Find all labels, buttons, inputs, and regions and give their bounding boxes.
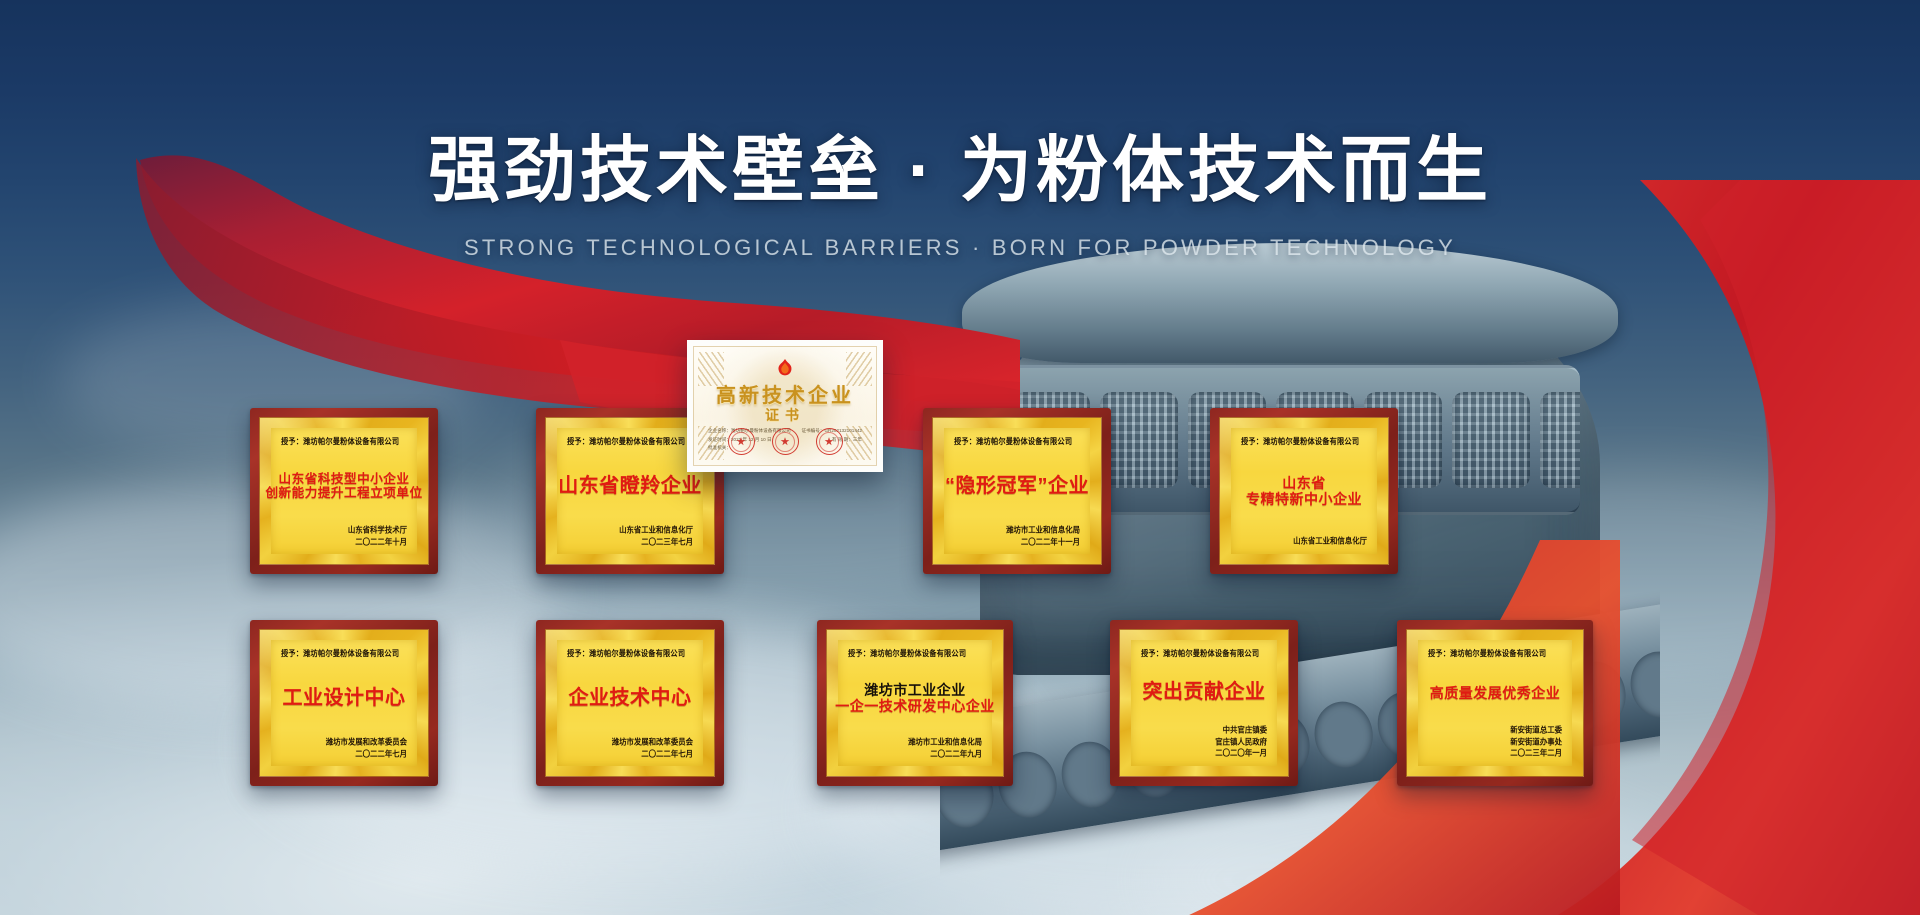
plaque-grantee: 授予：潍坊帕尔曼粉体设备有限公司 (1241, 436, 1367, 447)
plaque-issuer-line-1: 潍坊市工业和信息化局 (848, 736, 982, 748)
plaque-issuer: 新安街道总工委 新安街道办事处 二〇二三年二月 (1428, 725, 1562, 760)
plaque-title: 企业技术中心 (567, 658, 693, 739)
plaque-issuer-line-1: 中共官庄镇委 (1141, 725, 1267, 737)
plaque-title: 突出贡献企业 (1141, 658, 1267, 728)
plaque-issuer-line-2: 二〇二三年七月 (567, 536, 693, 548)
plaque-issuer-line-2: 新安街道办事处 (1428, 736, 1562, 748)
plaque-hidden-champion[interactable]: 授予：潍坊帕尔曼粉体设备有限公司 “隐形冠军”企业 潍坊市工业和信息化局 二〇二… (923, 408, 1111, 574)
plaque-grantee: 授予：潍坊帕尔曼粉体设备有限公司 (281, 648, 407, 659)
plaque-title: 高质量发展优秀企业 (1428, 658, 1562, 728)
plaque-issuer-line-3: 二〇二三年二月 (1428, 748, 1562, 760)
plaque-issuer-line-1: 新安街道总工委 (1428, 725, 1562, 737)
plaque-title: 山东省瞪羚企业 (567, 446, 693, 527)
plaque-title-line-1: 山东省 (1282, 476, 1326, 491)
plaque-title: 山东省 专精特新中小企业 (1241, 446, 1367, 537)
plaque-grantee: 授予：潍坊帕尔曼粉体设备有限公司 (567, 436, 693, 447)
plaque-issuer-line-2: 二〇二二年七月 (281, 748, 407, 760)
headline-block: 强劲技术壁垒 · 为粉体技术而生 STRONG TECHNOLOGICAL BA… (0, 130, 1920, 261)
plaque-issuer: 潍坊市发展和改革委员会 二〇二二年七月 (281, 736, 407, 760)
plaque-issuer: 潍坊市工业和信息化局 二〇二二年九月 (848, 736, 982, 760)
plaque-issuer: 潍坊市工业和信息化局 二〇二二年十一月 (954, 524, 1080, 548)
plaque-title-line-1: 山东省瞪羚企业 (558, 476, 702, 497)
plaque-issuer-line-2: 官庄镇人民政府 (1141, 736, 1267, 748)
plaque-title-line-1: 工业设计中心 (283, 688, 406, 709)
plaque-title-line-1: “隐形冠军”企业 (945, 476, 1089, 497)
plaque-shandong-tech-sme[interactable]: 授予：潍坊帕尔曼粉体设备有限公司 山东省科技型中小企业 创新能力提升工程立项单位… (250, 408, 438, 574)
plaque-grantee: 授予：潍坊帕尔曼粉体设备有限公司 (1428, 648, 1562, 659)
plaque-title: 工业设计中心 (281, 658, 407, 739)
certificate-high-tech-enterprise[interactable]: 高新技术企业 证书 企业名称：潍坊帕尔曼粉体设备有限公司 证书编号：GR2021… (687, 340, 883, 472)
plaque-grantee: 授予：潍坊帕尔曼粉体设备有限公司 (848, 648, 982, 659)
plaque-issuer-line-2: 二〇二二年九月 (848, 748, 982, 760)
plaque-grantee: 授予：潍坊帕尔曼粉体设备有限公司 (954, 436, 1080, 447)
certificate-subtitle: 证书 (694, 405, 876, 425)
plaque-issuer-line-1: 潍坊市工业和信息化局 (954, 524, 1080, 536)
plaque-issuer-line-3: 二〇二〇年一月 (1141, 748, 1267, 760)
plaque-grantee: 授予：潍坊帕尔曼粉体设备有限公司 (1141, 648, 1267, 659)
plaque-title-line-1: 高质量发展优秀企业 (1430, 686, 1561, 701)
plaque-title-line-1: 企业技术中心 (569, 688, 692, 709)
plaque-issuer-line-1: 山东省工业和信息化厅 (1241, 536, 1367, 548)
promo-banner: 强劲技术壁垒 · 为粉体技术而生 STRONG TECHNOLOGICAL BA… (0, 0, 1920, 915)
plaque-outstanding-contribution[interactable]: 授予：潍坊帕尔曼粉体设备有限公司 突出贡献企业 中共官庄镇委 官庄镇人民政府 二… (1110, 620, 1298, 786)
plaque-issuer-line-1: 山东省科学技术厅 (281, 524, 407, 536)
plaque-issuer-line-2: 二〇二二年七月 (567, 748, 693, 760)
plaque-title-line-1: 突出贡献企业 (1143, 682, 1266, 703)
plaque-one-enterprise-one-tech-rd-center[interactable]: 授予：潍坊帕尔曼粉体设备有限公司 潍坊市工业企业 一企一技术研发中心企业 潍坊市… (817, 620, 1013, 786)
plaque-issuer: 山东省科学技术厅 二〇二二年十月 (281, 524, 407, 548)
plaque-industrial-design-center[interactable]: 授予：潍坊帕尔曼粉体设备有限公司 工业设计中心 潍坊市发展和改革委员会 二〇二二… (250, 620, 438, 786)
plaque-issuer-line-2: 二〇二二年十一月 (954, 536, 1080, 548)
plaque-title-line-2: 一企一技术研发中心企业 (835, 699, 995, 714)
plaque-title: “隐形冠军”企业 (954, 446, 1080, 527)
plaque-title-line-2: 专精特新中小企业 (1246, 492, 1362, 507)
plaque-issuer-line-1: 潍坊市发展和改革委员会 (567, 736, 693, 748)
certificate-seals (694, 428, 876, 455)
plaque-title-line-2: 创新能力提升工程立项单位 (265, 487, 422, 500)
plaque-title-line-1: 潍坊市工业企业 (864, 683, 966, 698)
page-subtitle: STRONG TECHNOLOGICAL BARRIERS · BORN FOR… (0, 235, 1920, 261)
official-seal-icon (728, 428, 755, 455)
plaque-grantee: 授予：潍坊帕尔曼粉体设备有限公司 (567, 648, 693, 659)
certificates-gallery: 授予：潍坊帕尔曼粉体设备有限公司 山东省科技型中小企业 创新能力提升工程立项单位… (250, 408, 1680, 788)
plaque-title-line-1: 山东省科技型中小企业 (279, 473, 410, 486)
plaque-issuer-line-1: 潍坊市发展和改革委员会 (281, 736, 407, 748)
official-seal-icon (816, 428, 843, 455)
page-title: 强劲技术壁垒 · 为粉体技术而生 (0, 130, 1920, 213)
plaque-high-quality-development[interactable]: 授予：潍坊帕尔曼粉体设备有限公司 高质量发展优秀企业 新安街道总工委 新安街道办… (1397, 620, 1593, 786)
plaque-title: 潍坊市工业企业 一企一技术研发中心企业 (848, 658, 982, 739)
ding-rim (962, 243, 1618, 363)
certificate-title: 高新技术企业 (694, 379, 876, 408)
plaque-issuer: 中共官庄镇委 官庄镇人民政府 二〇二〇年一月 (1141, 725, 1267, 760)
plaque-specialized-new-sme[interactable]: 授予：潍坊帕尔曼粉体设备有限公司 山东省 专精特新中小企业 山东省工业和信息化厅 (1210, 408, 1398, 574)
plaque-issuer: 潍坊市发展和改革委员会 二〇二二年七月 (567, 736, 693, 760)
plaque-issuer: 山东省工业和信息化厅 (1241, 536, 1367, 548)
plaque-issuer-line-2: 二〇二二年十月 (281, 536, 407, 548)
flame-emblem-icon (774, 359, 796, 379)
plaque-issuer-line-1: 山东省工业和信息化厅 (567, 524, 693, 536)
plaque-title: 山东省科技型中小企业 创新能力提升工程立项单位 (281, 446, 407, 527)
official-seal-icon (772, 428, 799, 455)
plaque-issuer: 山东省工业和信息化厅 二〇二三年七月 (567, 524, 693, 548)
plaque-grantee: 授予：潍坊帕尔曼粉体设备有限公司 (281, 436, 407, 447)
plaque-enterprise-tech-center[interactable]: 授予：潍坊帕尔曼粉体设备有限公司 企业技术中心 潍坊市发展和改革委员会 二〇二二… (536, 620, 724, 786)
